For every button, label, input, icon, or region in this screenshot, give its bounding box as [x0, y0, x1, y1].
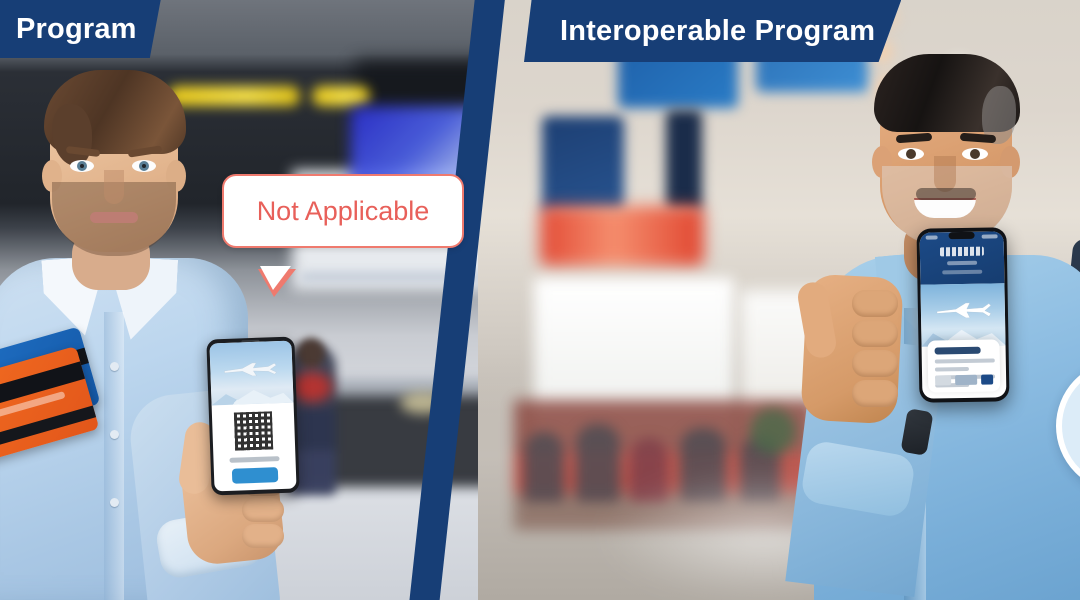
right-traveler-hair [874, 54, 1020, 132]
left-panel: Not Applicable [0, 0, 520, 600]
right-smartphone[interactable] [916, 227, 1009, 403]
app-content-card[interactable] [927, 339, 1000, 392]
shirt-button [110, 362, 119, 371]
right-banner-label: Interoperable Program [560, 15, 875, 48]
lamp-glow [400, 392, 446, 414]
not-applicable-callout: Not Applicable [222, 174, 464, 248]
left-banner-label: Program [16, 13, 137, 46]
mouth [90, 212, 138, 223]
qr-code [234, 411, 273, 450]
signature-strip [0, 406, 96, 455]
right-banner: Interoperable Program [524, 0, 901, 62]
yellow-sign-blur-2 [312, 86, 370, 106]
offer-detail-line [935, 367, 969, 372]
comparison-graphic: Not Applicable [0, 0, 1080, 600]
right-phone-screen[interactable] [920, 231, 1007, 398]
airplane-icon [222, 361, 278, 377]
app-hero-image [920, 283, 1005, 346]
right-panel [478, 0, 1080, 600]
right-traveler-fingers [852, 290, 898, 410]
mountain-silhouette [211, 383, 294, 406]
terminal-sign-blur-3 [542, 116, 624, 212]
left-smartphone[interactable] [206, 337, 299, 496]
callout-text: Not Applicable [257, 196, 430, 227]
airplane-icon [935, 301, 993, 318]
terminal-sign-blur-4 [666, 110, 702, 210]
background-person-head [297, 338, 325, 368]
eye-right [962, 148, 988, 160]
app-subtitle-line [947, 261, 977, 266]
potted-plant-blur [750, 408, 796, 454]
eye-left [70, 160, 94, 172]
app-logo [940, 247, 984, 257]
moustache [916, 188, 976, 200]
eye-right [132, 160, 156, 172]
background-person-red-accent [292, 372, 332, 402]
boarding-pass-hero-image [209, 341, 293, 406]
left-phone-screen[interactable] [209, 341, 296, 492]
shirt-button [110, 498, 119, 507]
offer-detail-line [935, 358, 995, 363]
app-header [920, 231, 1005, 284]
offer-title-placeholder [935, 347, 981, 355]
payment-partner-chips[interactable] [935, 374, 993, 385]
nose [104, 170, 124, 204]
phone-notch [949, 232, 975, 239]
boarding-pass-action-button[interactable] [232, 467, 278, 484]
light-streak [300, 272, 490, 282]
nose [934, 156, 956, 192]
left-traveler-hair [44, 70, 186, 154]
red-signage-blur [540, 206, 704, 266]
app-subtitle-line-2 [942, 270, 982, 275]
eye-left [898, 148, 924, 160]
left-banner: Program [0, 0, 161, 58]
left-traveler-figure [0, 62, 256, 600]
boarding-pass-label-placeholder [229, 456, 279, 463]
